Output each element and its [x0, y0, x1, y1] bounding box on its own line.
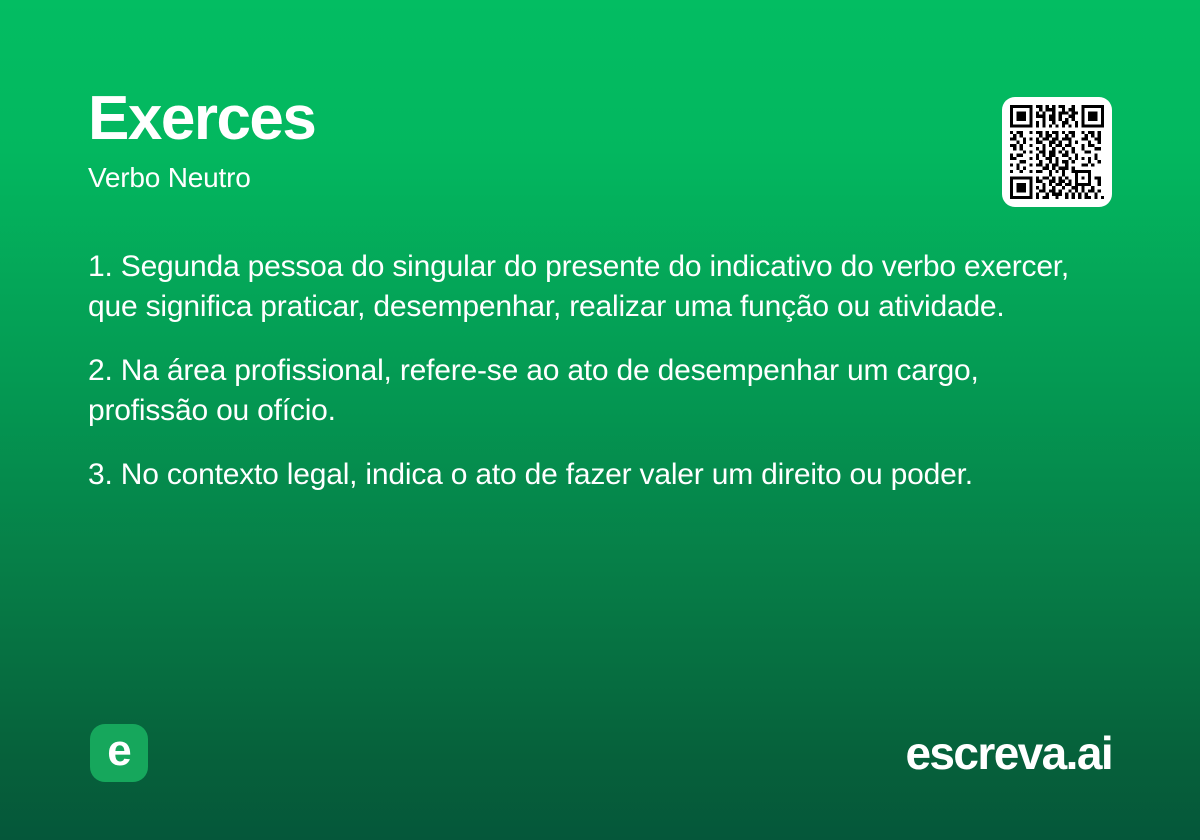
logo-letter: e: [90, 724, 148, 782]
definition-card: Exerces Verbo Neutro: [0, 0, 1200, 840]
brand-wordmark: escreva.ai: [905, 726, 1112, 780]
definitions-list: 1. Segunda pessoa do singular do present…: [88, 247, 1104, 495]
word-class-subtitle: Verbo Neutro: [88, 164, 1112, 192]
definition-item: 3. No contexto legal, indica o ato de fa…: [88, 455, 1104, 495]
card-footer: e escreva.ai: [88, 724, 1112, 784]
card-header: Exerces Verbo Neutro: [88, 88, 1112, 192]
qr-code[interactable]: [1002, 97, 1112, 207]
definition-item: 2. Na área profissional, refere-se ao at…: [88, 351, 1104, 431]
escreva-logo-icon: e: [90, 724, 148, 782]
definition-item: 1. Segunda pessoa do singular do present…: [88, 247, 1104, 327]
page-title: Exerces: [88, 88, 1112, 150]
qr-code-icon: [1010, 105, 1104, 199]
